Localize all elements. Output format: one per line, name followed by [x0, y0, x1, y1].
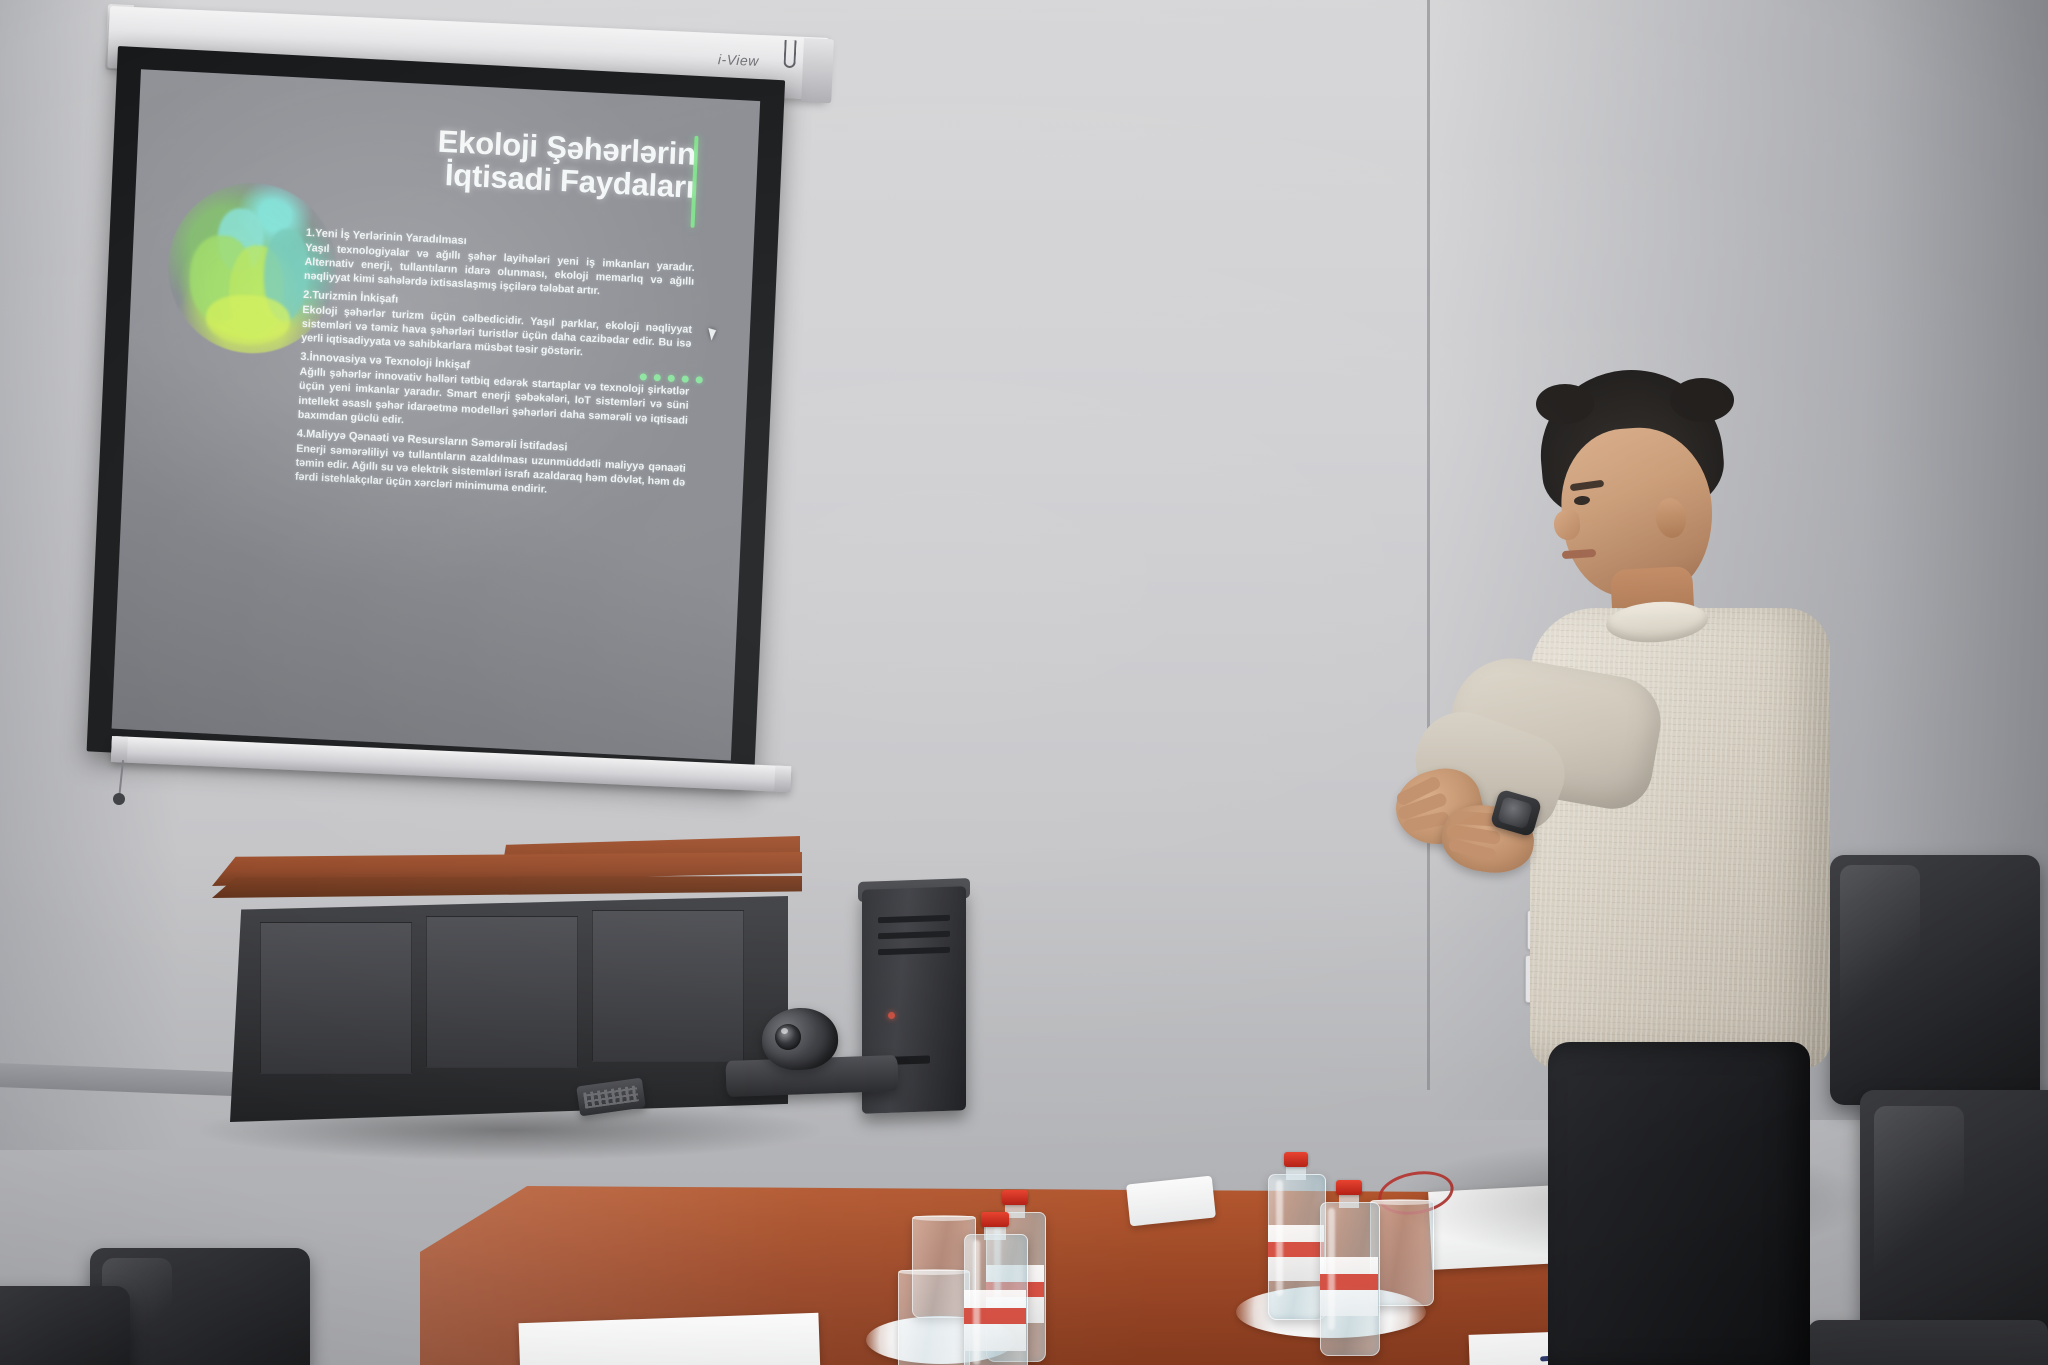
- screen-cord-knob[interactable]: [113, 793, 125, 805]
- av-cabinet: [212, 852, 802, 1122]
- screen-pull-hook[interactable]: [783, 40, 796, 69]
- cabinet-door-third[interactable]: [592, 910, 744, 1062]
- presentation-slide: Ekoloji Şəhərlərin İqtisadi Faydaları 1.…: [112, 69, 761, 760]
- camera-lens-glint: [781, 1028, 788, 1034]
- slide-body: 1.Yeni İş Yerlərinin Yaradılması Yaşıl t…: [295, 226, 696, 504]
- napkin-pack[interactable]: [1126, 1176, 1216, 1227]
- conference-room-scene: i-View Ekoloji Şəhərlərin İqtisadi Fayda…: [0, 0, 2048, 1365]
- screen-brand-label: i-View: [718, 51, 760, 69]
- presenter-trousers: [1548, 1042, 1810, 1365]
- cabinet-top-edge: [212, 876, 802, 898]
- water-bottle-3[interactable]: [1268, 1152, 1324, 1318]
- cabinet-door-right[interactable]: [426, 916, 578, 1068]
- av-receiver-power-led: [888, 1012, 895, 1019]
- screen-housing-cap-right: [801, 38, 834, 103]
- drinking-glass-2[interactable]: [898, 1270, 970, 1365]
- cabinet-body: [230, 896, 788, 1122]
- camera-lens-icon: [775, 1024, 801, 1050]
- mouse-pointer-icon: [708, 326, 718, 340]
- projector-screen[interactable]: Ekoloji Şəhərlərin İqtisadi Faydaları 1.…: [87, 46, 786, 786]
- cabinet-door-left[interactable]: [260, 922, 412, 1074]
- presenter: [1420, 370, 1840, 1365]
- slide-title: Ekoloji Şəhərlərin İqtisadi Faydaları: [374, 121, 697, 204]
- water-bottle-2[interactable]: [964, 1212, 1026, 1365]
- water-bottle-4[interactable]: [1320, 1180, 1378, 1354]
